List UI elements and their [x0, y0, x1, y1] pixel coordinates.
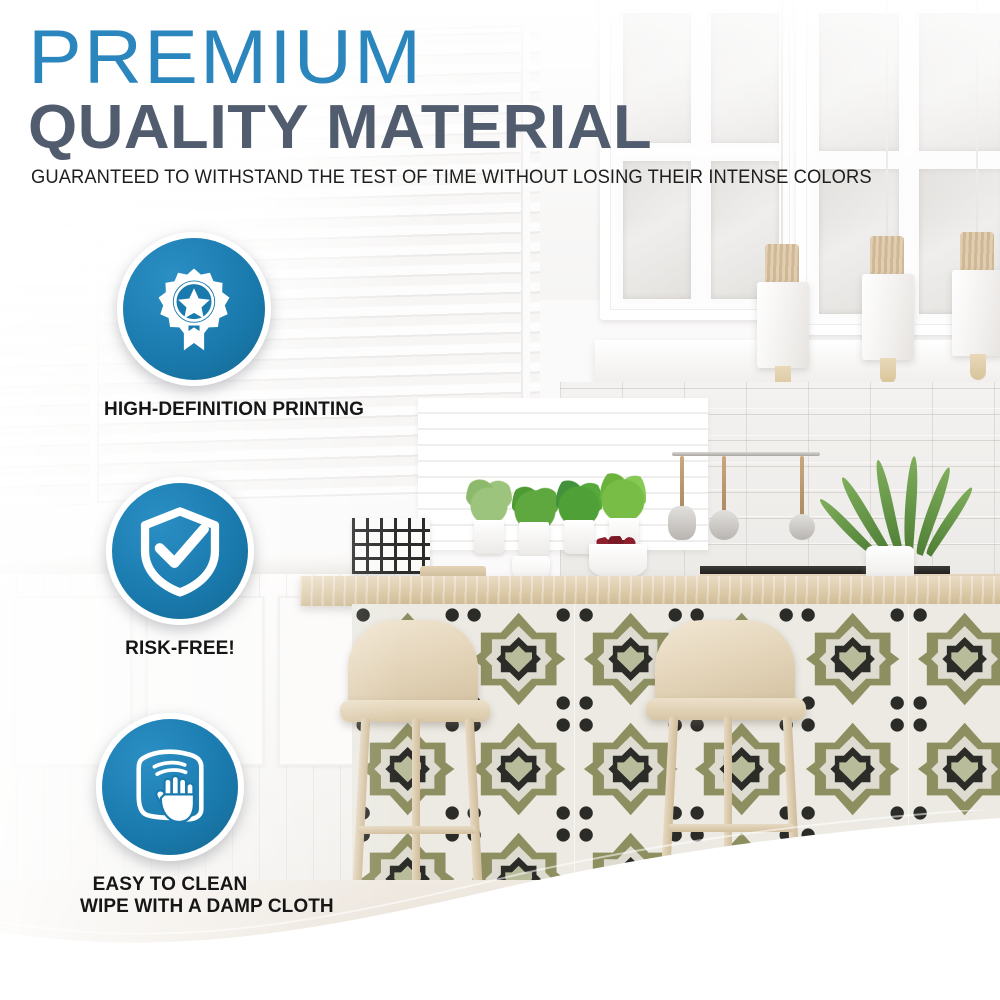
utensil-rail	[672, 452, 820, 456]
award-ribbon-badge	[117, 232, 271, 386]
feature-label-line1: RISK-FREE!	[125, 638, 235, 659]
hand-wipe-cloth-icon	[124, 741, 216, 833]
headline-quality-material: QUALITY MATERIAL	[28, 97, 864, 159]
header-block: PREMIUM QUALITY MATERIAL GUARANTEED TO W…	[28, 22, 848, 189]
pattern-tile	[797, 604, 908, 714]
feature-list: HIGH-DEFINITION PRINTING RISK-FREE!	[0, 232, 420, 919]
pattern-tile	[797, 714, 908, 824]
pattern-tile	[463, 714, 574, 824]
feature-high-definition-printing: HIGH-DEFINITION PRINTING	[104, 232, 284, 421]
feature-label: EASY TO CLEAN WIPE WITH A DAMP CLOTH	[80, 874, 260, 919]
feature-label-line1: HIGH-DEFINITION PRINTING	[104, 399, 364, 420]
pattern-tile	[686, 714, 797, 824]
hand-wipe-cloth-badge	[96, 713, 244, 861]
award-ribbon-icon	[148, 263, 240, 355]
shield-check-icon	[134, 505, 226, 597]
headline-premium: PREMIUM	[28, 22, 897, 95]
feature-label: HIGH-DEFINITION PRINTING	[104, 399, 284, 421]
shield-check-badge	[106, 477, 254, 625]
headline-subtitle: GUARANTEED TO WITHSTAND THE TEST OF TIME…	[31, 167, 819, 189]
fruit-bowl	[589, 544, 647, 578]
feature-label-line1: EASY TO CLEAN	[80, 874, 260, 896]
pattern-tile	[463, 604, 574, 714]
feature-label-line2: WIPE WITH A DAMP CLOTH	[80, 896, 260, 918]
pattern-tile	[909, 714, 1000, 824]
feature-label: RISK-FREE!	[90, 638, 270, 660]
feature-easy-to-clean: EASY TO CLEAN WIPE WITH A DAMP CLOTH	[80, 713, 260, 919]
promo-banner: PREMIUM QUALITY MATERIAL GUARANTEED TO W…	[0, 0, 1000, 1000]
feature-risk-free: RISK-FREE!	[90, 477, 270, 660]
pattern-tile	[909, 604, 1000, 714]
